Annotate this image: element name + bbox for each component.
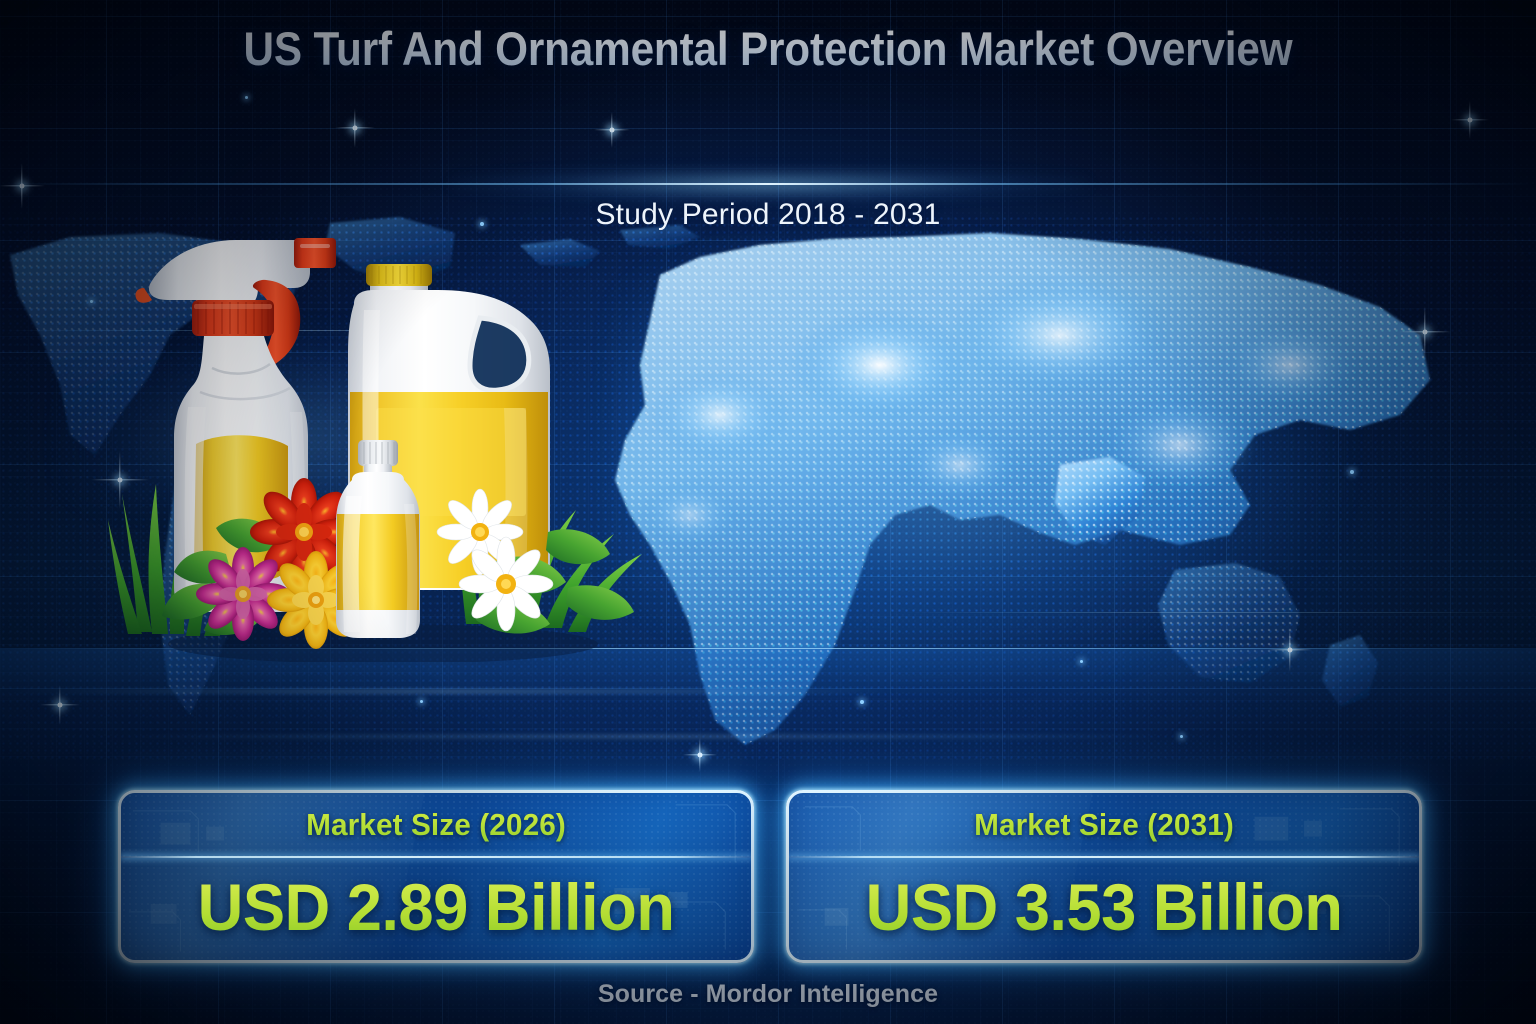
sparkle-dot <box>1350 470 1354 474</box>
market-size-label-2026: Market Size (2026) <box>134 793 739 856</box>
source-credit: Source - Mordor Intelligence <box>0 980 1536 1009</box>
sparkle-dot <box>1180 735 1183 738</box>
white-daisy-flower <box>459 537 553 631</box>
sparkle-dot <box>420 700 423 703</box>
sparkle-dot <box>90 300 93 303</box>
market-size-value-2026: USD 2.89 Billion <box>134 858 739 960</box>
page-title: US Turf And Ornamental Protection Market… <box>77 22 1459 77</box>
product-illustration <box>108 232 653 662</box>
sparkle-dot <box>860 700 864 704</box>
market-size-label-2031: Market Size (2031) <box>802 793 1407 856</box>
market-size-card-2026[interactable]: Market Size (2026) USD 2.89 Billion <box>118 790 754 963</box>
product-illustration-svg <box>108 232 653 662</box>
study-period-subtitle: Study Period 2018 - 2031 <box>0 198 1536 232</box>
header-light-streak <box>0 183 1536 185</box>
sparkle-dot <box>245 96 248 99</box>
market-size-cards: Market Size (2026) USD 2.89 Billion <box>118 790 1422 963</box>
market-size-card-2031[interactable]: Market Size (2031) USD 3.53 Billion <box>786 790 1422 963</box>
sparkle-dot <box>1080 660 1083 663</box>
market-size-value-2031: USD 3.53 Billion <box>802 858 1407 960</box>
infographic-root: US Turf And Ornamental Protection Market… <box>0 0 1536 1024</box>
